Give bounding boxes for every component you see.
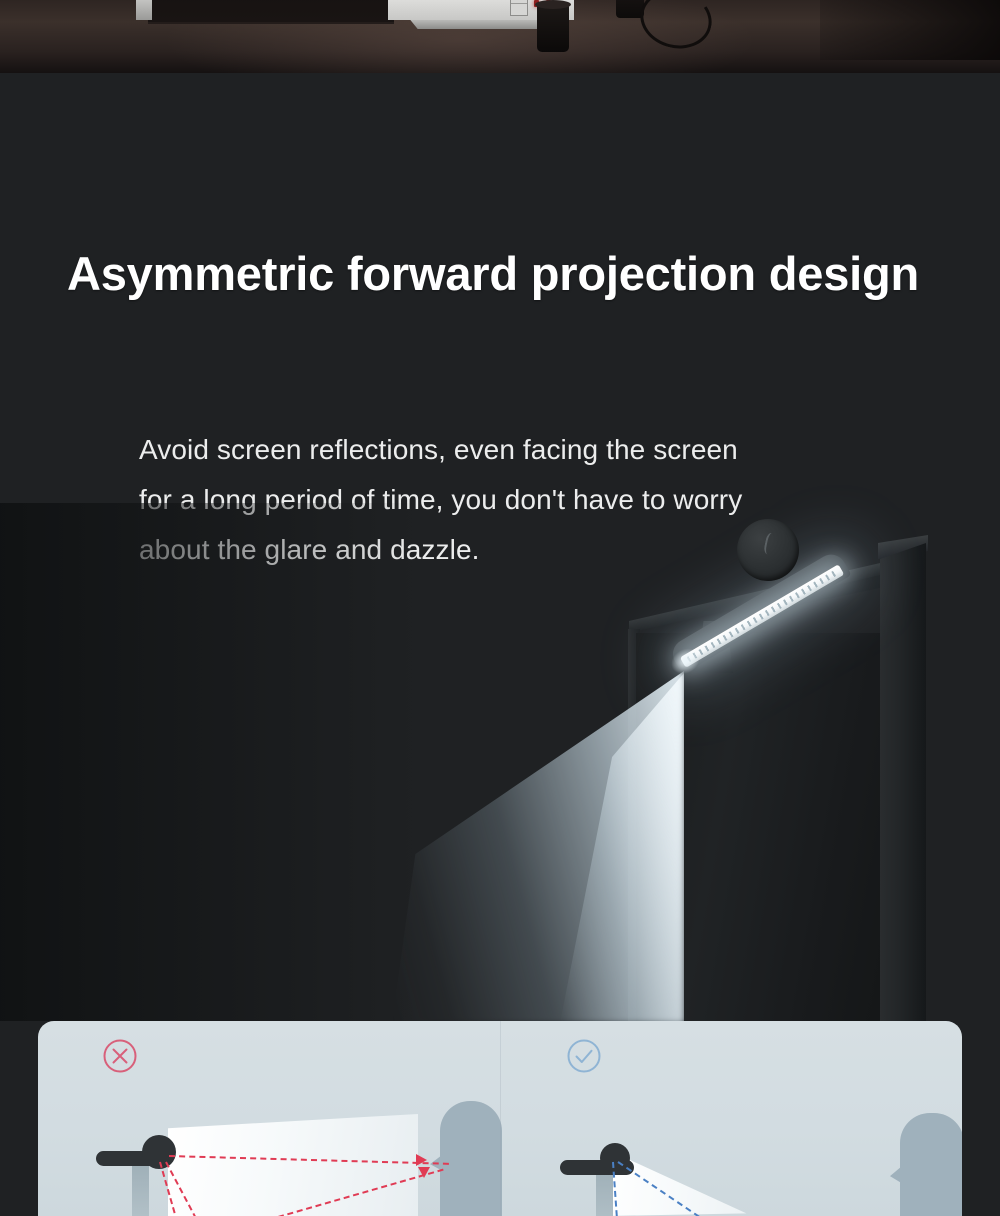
subtitle-line-1: Avoid screen reflections, even facing th…	[139, 425, 742, 475]
product-scene	[0, 503, 1000, 1021]
device-button-icon	[510, 0, 528, 16]
top-photo-strip	[0, 0, 1000, 73]
cup-silhouette-icon	[537, 4, 569, 52]
product-feature-page: Asymmetric forward projection design Avo…	[0, 0, 1000, 1216]
stand-silhouette-icon	[136, 0, 152, 20]
page-title: Asymmetric forward projection design	[67, 246, 919, 301]
comparison-panel	[38, 1021, 962, 1216]
photo-vignette	[820, 0, 1000, 60]
comparison-bad-half	[38, 1021, 500, 1216]
bad-lamp-post	[132, 1164, 149, 1216]
good-lamp-post	[596, 1171, 613, 1216]
monitor-side-panel	[880, 543, 926, 1021]
bad-arrowhead-upper	[416, 1154, 427, 1166]
bad-arrowhead-lower	[418, 1167, 430, 1178]
wall-shadow	[0, 503, 420, 1021]
monitor-silhouette-icon	[148, 0, 394, 24]
good-monitor-screen	[606, 1149, 786, 1216]
bad-monitor-screen	[168, 1114, 418, 1216]
good-nose-silhouette	[890, 1161, 908, 1187]
cross-circle-icon	[102, 1038, 138, 1074]
hero-section: Asymmetric forward projection design Avo…	[0, 73, 1000, 1021]
good-head-silhouette	[900, 1113, 962, 1216]
comparison-good-half	[500, 1021, 962, 1216]
rotary-knob	[737, 519, 799, 581]
check-circle-icon	[566, 1038, 602, 1074]
